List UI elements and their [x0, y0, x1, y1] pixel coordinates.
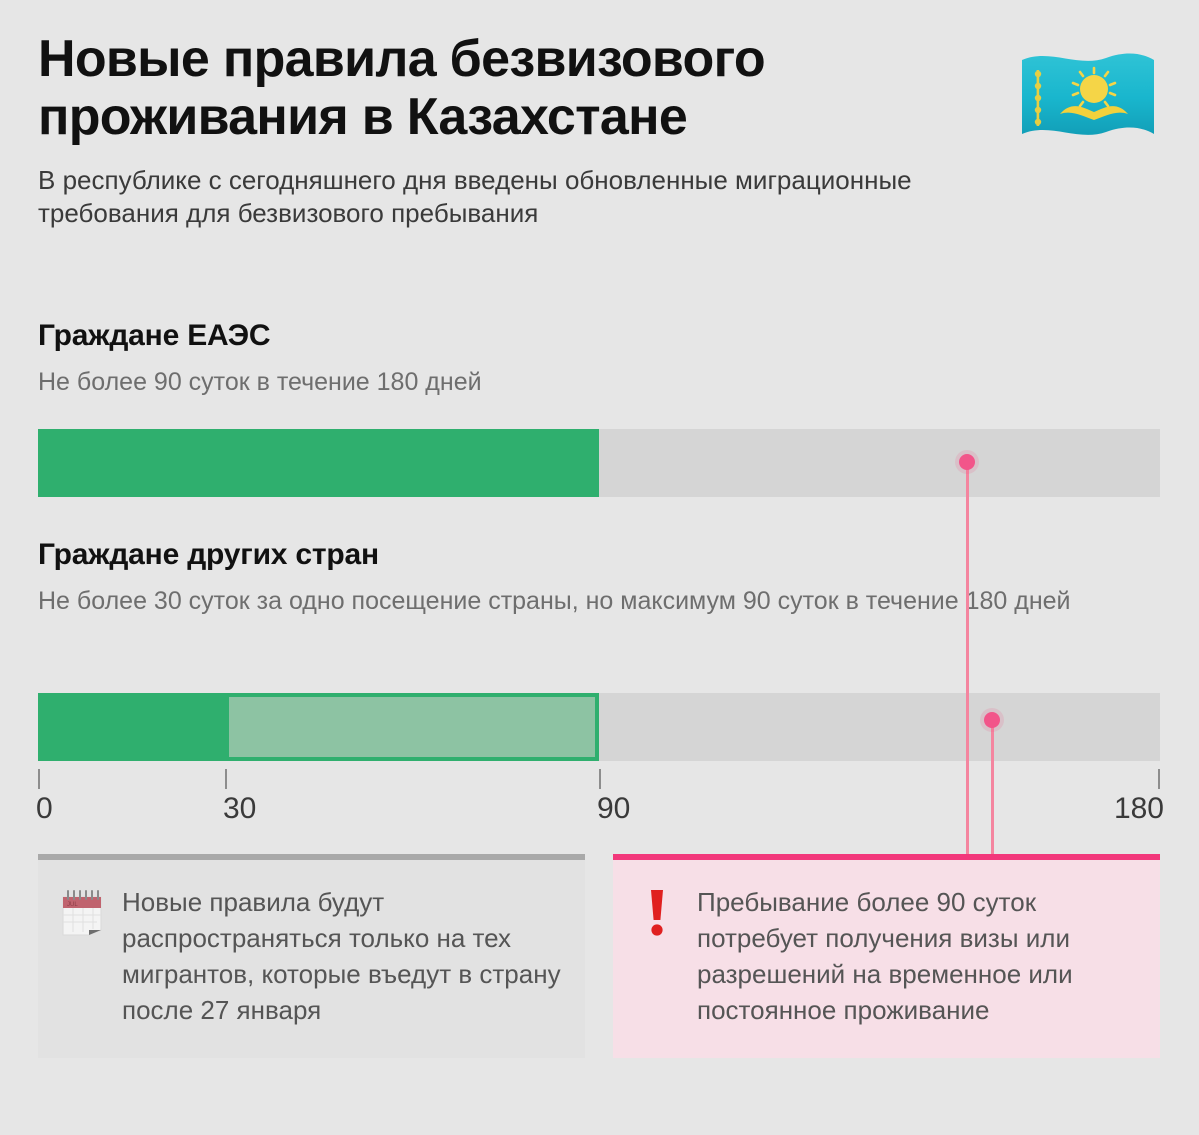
bar-segment-other-90days: [225, 693, 599, 761]
note-text: Новые правила будут распространяться тол…: [122, 884, 563, 1028]
kazakhstan-flag-icon: [1016, 42, 1160, 154]
bar-segment-other-30days: [38, 693, 225, 761]
axis-tick-30: [225, 769, 227, 789]
infographic-page: Новые правила безвизового проживания в К…: [0, 0, 1199, 1135]
exclamation-mark-icon: [633, 884, 681, 940]
annotation-connector-line-1: [966, 462, 969, 854]
svg-text:JUL: JUL: [67, 902, 78, 908]
annotation-connector-dot-2: [984, 712, 1000, 728]
annotation-connector-line-2: [991, 720, 994, 854]
axis-label-180: 180: [1114, 791, 1164, 827]
section-other-citizens: Граждане других стран Не более 30 суток …: [38, 537, 1160, 617]
header-text: Новые правила безвизового проживания в К…: [38, 30, 968, 230]
note-card-effective-date: JUL Новые правила будут распространяться…: [38, 854, 585, 1058]
calendar-icon: JUL: [58, 884, 106, 940]
axis-label-0: 0: [36, 791, 53, 827]
header: Новые правила безвизового проживания в К…: [38, 30, 1160, 230]
bar-segment-eaeu-90days: [38, 429, 599, 497]
section-title: Граждане ЕАЭС: [38, 318, 1160, 354]
notes-row: JUL Новые правила будут распространяться…: [38, 854, 1160, 1058]
annotation-connector-dot-1: [959, 454, 975, 470]
section-description: Не более 90 суток в течение 180 дней: [38, 366, 1160, 398]
axis-tick-90: [599, 769, 601, 789]
page-subtitle: В республике с сегодняшнего дня введены …: [38, 164, 968, 230]
axis-tick-180: [1158, 769, 1160, 789]
axis-tick-0: [38, 769, 40, 789]
page-title: Новые правила безвизового проживания в К…: [38, 30, 938, 146]
note-text: Пребывание более 90 суток потребует полу…: [697, 884, 1138, 1028]
axis-label-90: 90: [597, 791, 630, 827]
section-eaeu-citizens: Граждане ЕАЭС Не более 90 суток в течени…: [38, 318, 1160, 398]
axis-label-30: 30: [223, 791, 256, 827]
section-title: Граждане других стран: [38, 537, 1160, 573]
note-card-visa-warning: Пребывание более 90 суток потребует полу…: [613, 854, 1160, 1058]
bar-track-eaeu: [38, 429, 1160, 497]
section-description: Не более 30 суток за одно посещение стра…: [38, 585, 1160, 617]
